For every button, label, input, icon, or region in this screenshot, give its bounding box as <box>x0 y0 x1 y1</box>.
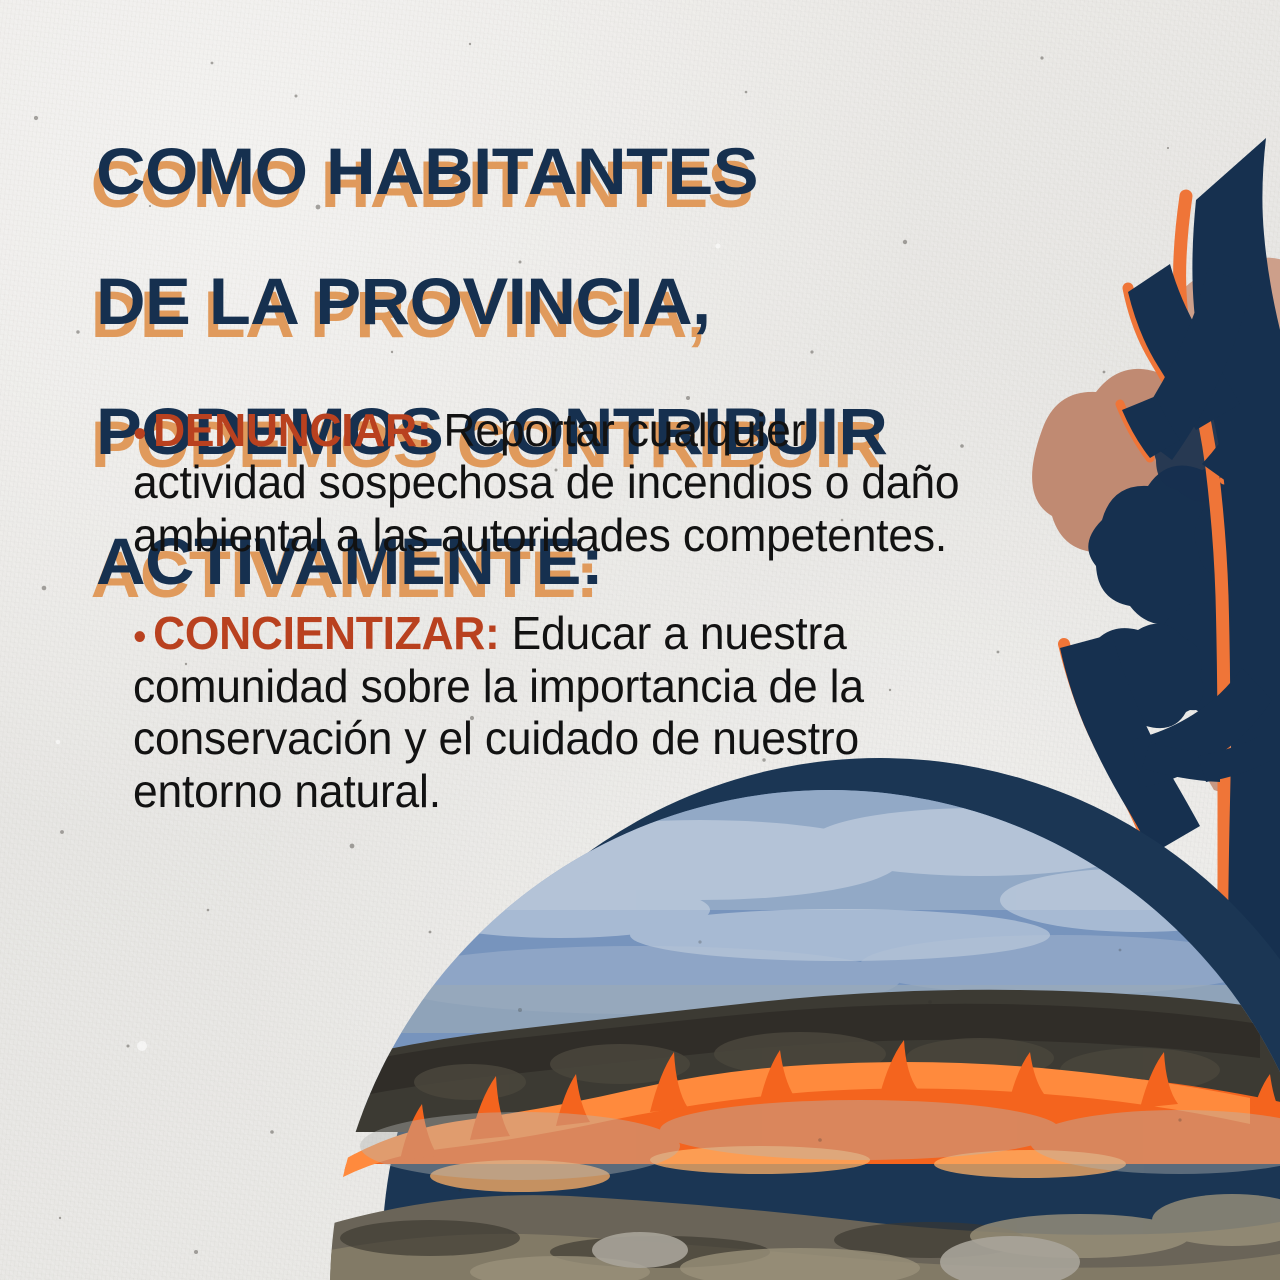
bullet-list: •DENUNCIAR: Reportar cualquier actividad… <box>133 404 1013 817</box>
bullet-marker-icon: • <box>133 412 146 456</box>
headline-line-2: DE LA PROVINCIA, <box>96 269 1094 334</box>
headline-line-1: COMO HABITANTES <box>96 139 1094 204</box>
tree-base-overlap <box>1193 960 1270 1080</box>
bullet-label-concientizar: CONCIENTIZAR: <box>153 607 499 659</box>
list-item: •DENUNCIAR: Reportar cualquier actividad… <box>133 404 1013 561</box>
bullet-label-denunciar: DENUNCIAR: <box>153 404 431 456</box>
poster-canvas: 0%#9fb4cf <box>0 0 1280 1280</box>
list-item: •CONCIENTIZAR: Educar a nuestra comunida… <box>133 607 1013 817</box>
bullet-marker-icon: • <box>133 615 146 659</box>
